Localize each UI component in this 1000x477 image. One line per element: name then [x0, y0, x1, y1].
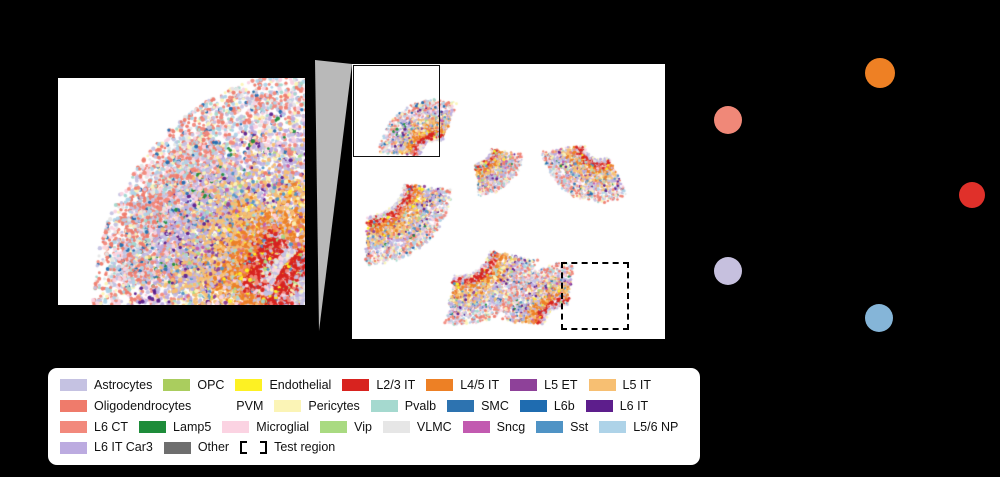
legend-swatch — [447, 400, 474, 412]
legend-label: VLMC — [417, 421, 452, 434]
legend-label: L6 IT Car3 — [94, 441, 153, 454]
legend-swatch — [60, 379, 87, 391]
test-region-swatch-icon — [240, 441, 267, 454]
legend-entry-sncg: Sncg — [463, 421, 526, 434]
legend-label: Vip — [354, 421, 372, 434]
legend-label: Sncg — [497, 421, 526, 434]
legend-entry-sst: Sst — [536, 421, 588, 434]
legend-label: L6 CT — [94, 421, 128, 434]
legend-entry-pvm: PVM — [202, 400, 263, 413]
legend-label: Other — [198, 441, 229, 454]
legend-label: OPC — [197, 379, 224, 392]
legend-label: Sst — [570, 421, 588, 434]
legend-swatch — [60, 421, 87, 433]
marker-scatter-plate — [690, 36, 1000, 356]
legend-entry-l4-5-it: L4/5 IT — [426, 379, 499, 392]
legend-entry-l6-ct: L6 CT — [60, 421, 128, 434]
legend-label: Endothelial — [269, 379, 331, 392]
marker-lavender — [714, 257, 742, 285]
legend-swatch — [463, 421, 490, 433]
legend-swatch — [222, 421, 249, 433]
legend-label: L4/5 IT — [460, 379, 499, 392]
legend-swatch — [320, 421, 347, 433]
legend-swatch — [60, 400, 87, 412]
legend-label: L5/6 NP — [633, 421, 678, 434]
legend-entry-l6-it-car3: L6 IT Car3 — [60, 441, 153, 454]
legend-swatch — [274, 400, 301, 412]
marker-orange — [865, 58, 895, 88]
legend-label: Astrocytes — [94, 379, 152, 392]
legend-entry-l2-3-it: L2/3 IT — [342, 379, 415, 392]
legend-label: L6b — [554, 400, 575, 413]
marker-blue — [865, 304, 893, 332]
legend-swatch — [383, 421, 410, 433]
legend-row: L6 CTLamp5MicroglialVipVLMCSncgSstL5/6 N… — [60, 417, 690, 438]
legend-swatch — [510, 379, 537, 391]
legend-label: Oligodendrocytes — [94, 400, 191, 413]
legend-swatch — [426, 379, 453, 391]
figure-root: AstrocytesOPCEndothelialL2/3 ITL4/5 ITL5… — [0, 0, 1000, 477]
legend-entry-opc: OPC — [163, 379, 224, 392]
legend-swatch — [342, 379, 369, 391]
legend-label: Test region — [274, 441, 335, 454]
marker-salmon — [714, 106, 742, 134]
legend-entry-l5-it: L5 IT — [589, 379, 652, 392]
legend-swatch — [589, 379, 616, 391]
legend-swatch — [202, 400, 229, 412]
legend-label: Microglial — [256, 421, 309, 434]
source-region-box — [353, 65, 440, 157]
legend-entry-l5-et: L5 ET — [510, 379, 577, 392]
legend-row: L6 IT Car3OtherTest region — [60, 437, 690, 458]
legend-label: L5 IT — [623, 379, 652, 392]
legend-label: L6 IT — [620, 400, 649, 413]
legend-entry-microglial: Microglial — [222, 421, 309, 434]
legend-swatch — [520, 400, 547, 412]
legend-row: OligodendrocytesPVMPericytesPvalbSMCL6bL… — [60, 396, 690, 417]
legend-entry-l6b: L6b — [520, 400, 575, 413]
legend-label: PVM — [236, 400, 263, 413]
legend-label: SMC — [481, 400, 509, 413]
legend-swatch — [139, 421, 166, 433]
legend-label: Pericytes — [308, 400, 359, 413]
marker-red — [959, 182, 985, 208]
legend-entry-vlmc: VLMC — [383, 421, 452, 434]
test-region-box — [561, 262, 629, 330]
legend-swatch — [163, 379, 190, 391]
legend-swatch — [60, 442, 87, 454]
legend-label: Pvalb — [405, 400, 436, 413]
legend-label: L2/3 IT — [376, 379, 415, 392]
legend-entry-smc: SMC — [447, 400, 509, 413]
magnified-tissue-scatter — [58, 78, 305, 305]
legend-entry-endothelial: Endothelial — [235, 379, 331, 392]
legend-entry-l6-it: L6 IT — [586, 400, 649, 413]
legend-entry-other: Other — [164, 441, 229, 454]
legend-row: AstrocytesOPCEndothelialL2/3 ITL4/5 ITL5… — [60, 375, 690, 396]
legend-label: L5 ET — [544, 379, 577, 392]
legend-entry-astrocytes: Astrocytes — [60, 379, 152, 392]
legend-swatch — [164, 442, 191, 454]
legend-swatch — [235, 379, 262, 391]
legend-entry-l5-6-np: L5/6 NP — [599, 421, 678, 434]
legend-entry-pvalb: Pvalb — [371, 400, 436, 413]
cell-type-legend: AstrocytesOPCEndothelialL2/3 ITL4/5 ITL5… — [48, 368, 700, 465]
legend-entry-pericytes: Pericytes — [274, 400, 359, 413]
legend-entry-lamp5: Lamp5 — [139, 421, 211, 434]
legend-entry-test-region: Test region — [240, 441, 335, 454]
legend-entry-oligodendrocytes: Oligodendrocytes — [60, 400, 191, 413]
legend-entry-vip: Vip — [320, 421, 372, 434]
legend-swatch — [599, 421, 626, 433]
legend-swatch — [371, 400, 398, 412]
legend-swatch — [536, 421, 563, 433]
legend-swatch — [586, 400, 613, 412]
legend-label: Lamp5 — [173, 421, 211, 434]
magnified-tissue-panel — [58, 78, 305, 305]
